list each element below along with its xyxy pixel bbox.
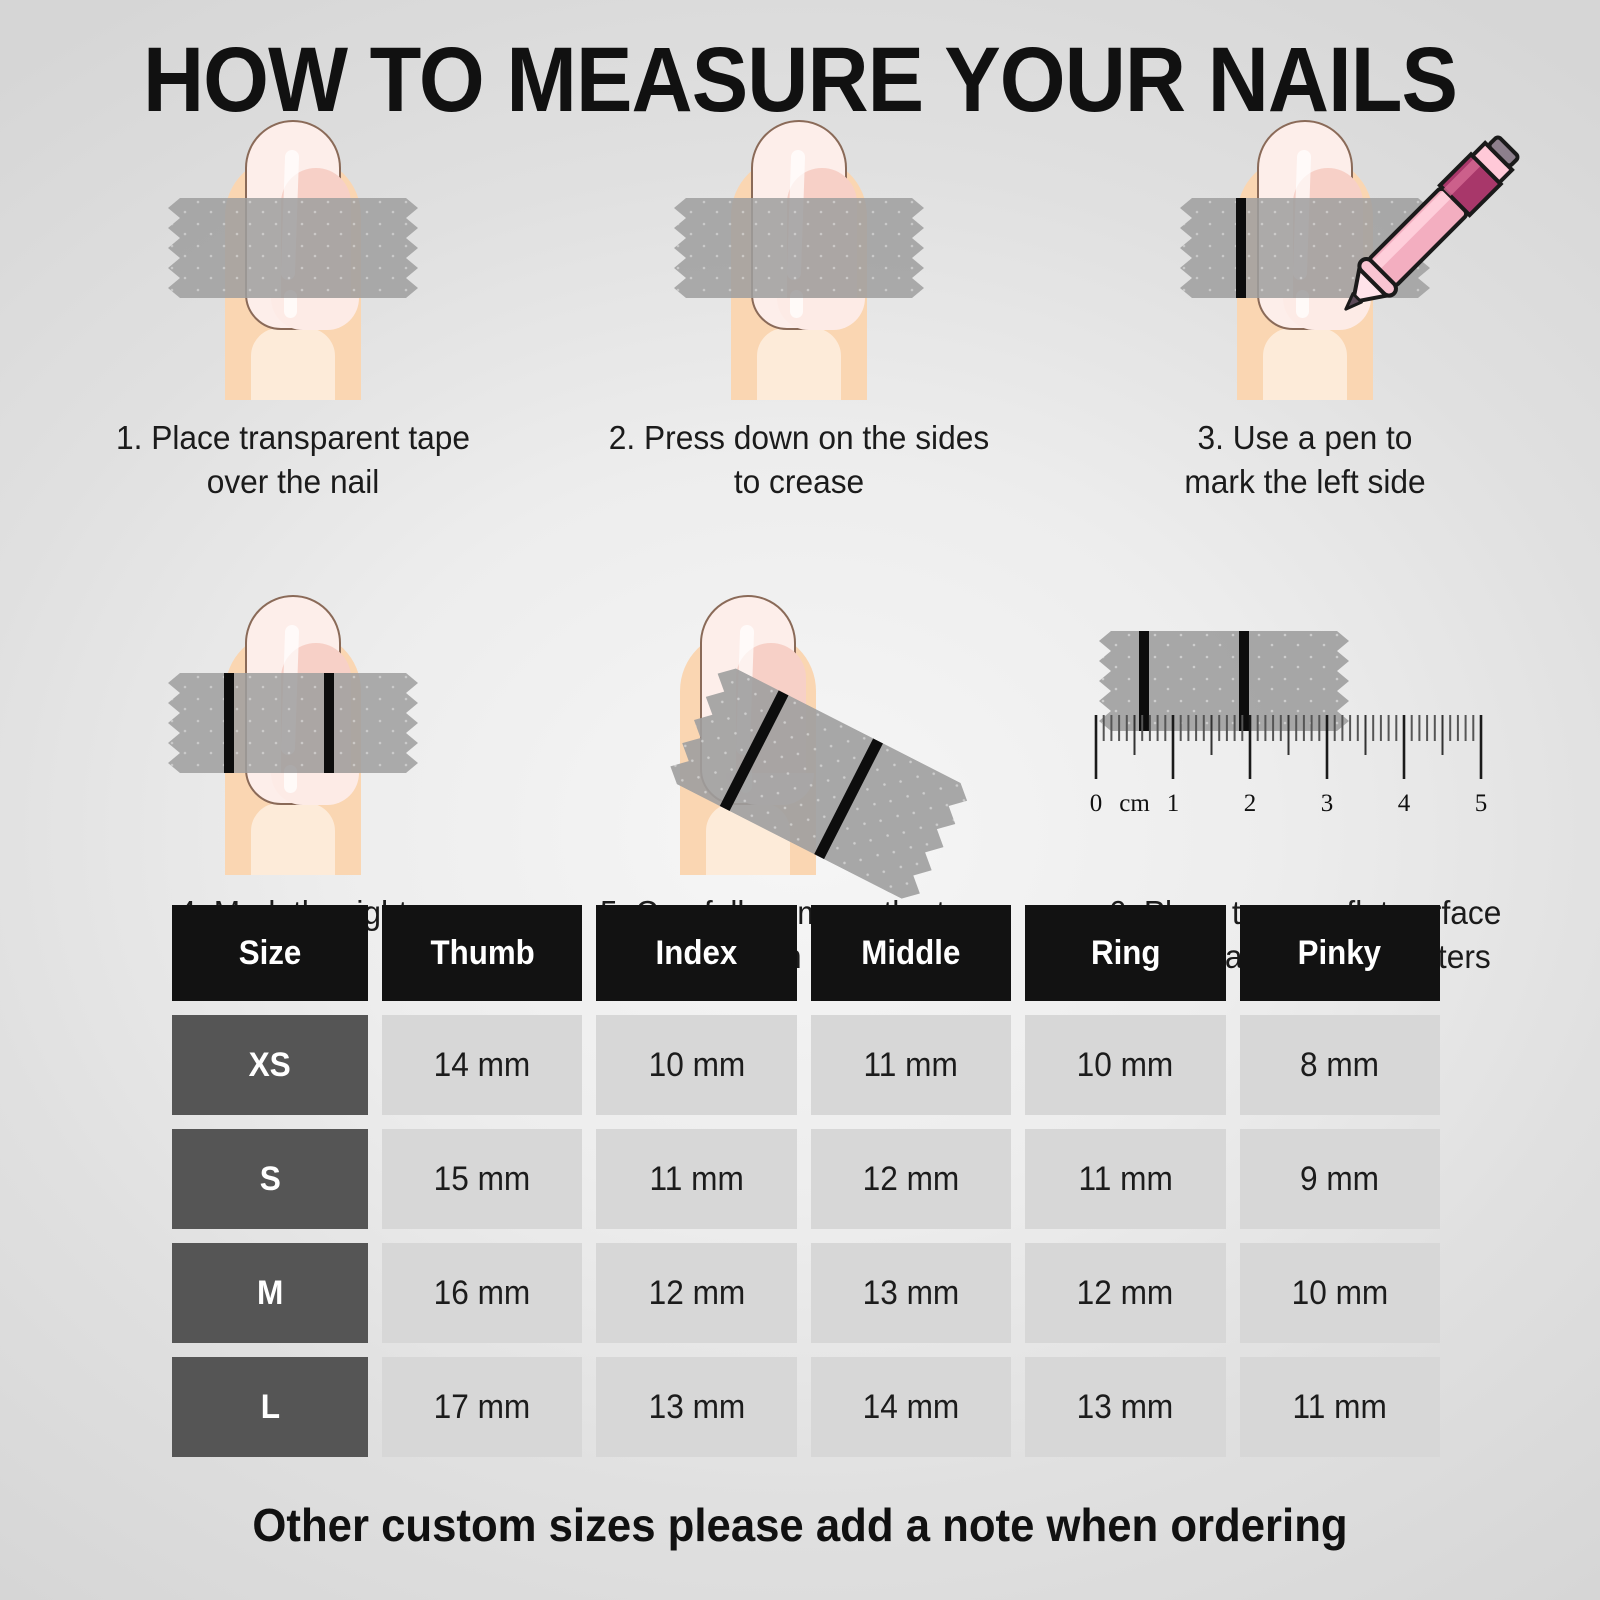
step-1: 1. Place transparent tape over the nail bbox=[40, 120, 546, 503]
table-header-thumb-label: Thumb bbox=[430, 905, 534, 1001]
table-header-pinky-label: Pinky bbox=[1298, 905, 1381, 1001]
step-3-caption: 3. Use a pen to mark the left side bbox=[1062, 410, 1548, 503]
ruler-tick-label: 1 bbox=[1167, 790, 1180, 817]
table-header-ring-label: Ring bbox=[1091, 905, 1161, 1001]
table-cell-ring: 11 mm bbox=[1025, 1129, 1225, 1229]
step-2-caption: 2. Press down on the sides to crease bbox=[556, 410, 1042, 503]
table-cell-pinky: 8 mm bbox=[1240, 1015, 1440, 1115]
pen-mark-left bbox=[224, 673, 234, 773]
steps-section: 1. Place transparent tape over the nail bbox=[40, 120, 1560, 978]
tape-strip bbox=[168, 673, 418, 773]
steps-row-1: 1. Place transparent tape over the nail bbox=[40, 120, 1560, 503]
table-header-index: Index bbox=[596, 905, 796, 1001]
step-3: 3. Use a pen to mark the left side bbox=[1052, 120, 1558, 503]
ruler-tick-label: 5 bbox=[1475, 790, 1488, 817]
finger-skin-highlight bbox=[251, 803, 335, 875]
ruler-unit-label: cm bbox=[1119, 790, 1150, 817]
step-1-caption: 1. Place transparent tape over the nail bbox=[50, 410, 536, 503]
tape-strip bbox=[168, 198, 418, 298]
table-cell-pinky: 10 mm bbox=[1240, 1243, 1440, 1343]
table-header-thumb: Thumb bbox=[382, 905, 582, 1001]
table-row: M 16 mm 12 mm 13 mm 12 mm 10 mm bbox=[172, 1243, 1440, 1343]
table-cell-thumb: 15 mm bbox=[382, 1129, 582, 1229]
size-table: Size Thumb Index Middle Ring Pinky XS 14… bbox=[172, 905, 1440, 1471]
table-cell-size: L bbox=[172, 1357, 368, 1457]
table-cell-size: M bbox=[172, 1243, 368, 1343]
table-cell-index: 13 mm bbox=[596, 1357, 796, 1457]
step-2-illustration bbox=[546, 120, 1052, 410]
pen-mark-right bbox=[324, 673, 334, 773]
step-3-illustration bbox=[1052, 120, 1558, 410]
ruler-tick-label: 2 bbox=[1244, 790, 1257, 817]
table-header-size: Size bbox=[172, 905, 368, 1001]
table-cell-thumb: 14 mm bbox=[382, 1015, 582, 1115]
step-1-illustration bbox=[40, 120, 546, 410]
table-header-index-label: Index bbox=[656, 905, 738, 1001]
step-4-illustration bbox=[40, 595, 546, 885]
footer-note: Other custom sizes please add a note whe… bbox=[40, 1498, 1560, 1552]
table-cell-middle: 11 mm bbox=[811, 1015, 1011, 1115]
step-6-illustration: 012345cm bbox=[1052, 595, 1558, 885]
finger-skin-highlight bbox=[251, 328, 335, 400]
table-cell-ring: 13 mm bbox=[1025, 1357, 1225, 1457]
table-cell-size: XS bbox=[172, 1015, 368, 1115]
table-cell-thumb: 17 mm bbox=[382, 1357, 582, 1457]
table-row: S 15 mm 11 mm 12 mm 11 mm 9 mm bbox=[172, 1129, 1440, 1229]
table-header-row: Size Thumb Index Middle Ring Pinky bbox=[172, 905, 1440, 1001]
step-2: 2. Press down on the sides to crease bbox=[546, 120, 1052, 503]
infographic-page: HOW TO MEASURE YOUR NAILS bbox=[0, 0, 1600, 1600]
table-cell-index: 12 mm bbox=[596, 1243, 796, 1343]
table-header-pinky: Pinky bbox=[1240, 905, 1440, 1001]
table-cell-index: 11 mm bbox=[596, 1129, 796, 1229]
table-cell-pinky: 9 mm bbox=[1240, 1129, 1440, 1229]
ruler-tick-label: 0 bbox=[1090, 790, 1103, 817]
table-cell-size: S bbox=[172, 1129, 368, 1229]
table-row: XS 14 mm 10 mm 11 mm 10 mm 8 mm bbox=[172, 1015, 1440, 1115]
pen-icon bbox=[1315, 110, 1545, 340]
table-cell-ring: 12 mm bbox=[1025, 1243, 1225, 1343]
table-header-ring: Ring bbox=[1025, 905, 1225, 1001]
step-5-illustration bbox=[546, 595, 1052, 885]
ruler-tick-label: 3 bbox=[1321, 790, 1334, 817]
tape-strip-creased bbox=[674, 198, 924, 298]
table-header-middle-label: Middle bbox=[861, 905, 960, 1001]
table-header-size-label: Size bbox=[239, 905, 302, 1001]
finger-skin-highlight bbox=[757, 328, 841, 400]
table-cell-pinky: 11 mm bbox=[1240, 1357, 1440, 1457]
table-cell-thumb: 16 mm bbox=[382, 1243, 582, 1343]
pen-mark-left bbox=[1236, 198, 1246, 298]
table-cell-middle: 12 mm bbox=[811, 1129, 1011, 1229]
table-cell-middle: 13 mm bbox=[811, 1243, 1011, 1343]
table-cell-middle: 14 mm bbox=[811, 1357, 1011, 1457]
table-cell-ring: 10 mm bbox=[1025, 1015, 1225, 1115]
ruler: 012345cm bbox=[1074, 711, 1504, 831]
table-cell-index: 10 mm bbox=[596, 1015, 796, 1115]
table-header-middle: Middle bbox=[811, 905, 1011, 1001]
ruler-tick-label: 4 bbox=[1398, 790, 1411, 817]
table-row: L 17 mm 13 mm 14 mm 13 mm 11 mm bbox=[172, 1357, 1440, 1457]
